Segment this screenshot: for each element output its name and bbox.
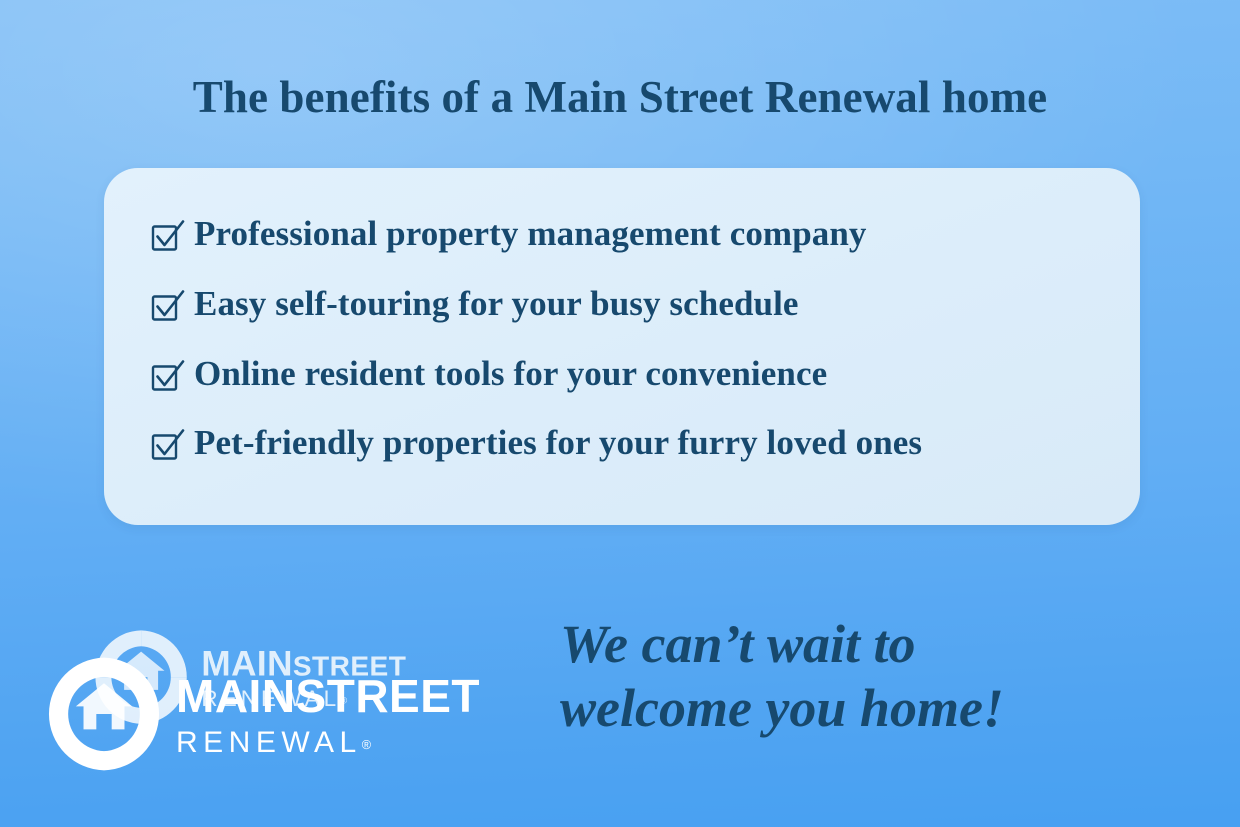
brand-word-street: STREET (296, 670, 480, 722)
brand-word-main: MAIN (176, 670, 296, 722)
poster-background: The benefits of a Main Street Renewal ho… (0, 0, 1240, 827)
brand-logo: MAINSTREET RENEWAL® MAINSTREET R (40, 618, 520, 798)
benefit-label: Online resident tools for your convenien… (194, 352, 827, 397)
benefit-label: Easy self-touring for your busy schedule (194, 282, 799, 327)
checked-checkbox-icon (150, 428, 184, 462)
brand-logo-front-copy: MAINSTREET RENEWAL® (40, 650, 480, 778)
registered-mark-icon: ® (362, 737, 371, 751)
mainstreet-swirl-logo-icon (40, 650, 168, 778)
tagline-line-1: We can’t wait to (560, 613, 1180, 677)
benefits-card: Professional property management company… (104, 168, 1140, 525)
checked-checkbox-icon (150, 289, 184, 323)
tagline-line-2: welcome you home! (560, 677, 1180, 741)
list-item: Easy self-touring for your busy schedule (150, 282, 1110, 327)
checked-checkbox-icon (150, 219, 184, 253)
benefit-label: Pet-friendly properties for your furry l… (194, 421, 922, 466)
page-title: The benefits of a Main Street Renewal ho… (0, 72, 1240, 122)
tagline: We can’t wait to welcome you home! (560, 613, 1180, 740)
list-item: Professional property management company (150, 212, 1110, 257)
brand-subtitle: RENEWAL® (176, 726, 480, 760)
brand-logo-wordmark-group: MAINSTREET RENEWAL® (176, 669, 480, 760)
list-item: Online resident tools for your convenien… (150, 352, 1110, 397)
benefit-label: Professional property management company (194, 212, 867, 257)
brand-wordmark: MAINSTREET (176, 673, 480, 719)
list-item: Pet-friendly properties for your furry l… (150, 421, 1110, 466)
benefits-list: Professional property management company… (150, 212, 1110, 466)
checked-checkbox-icon (150, 359, 184, 393)
brand-subtitle-text: RENEWAL (176, 726, 362, 759)
